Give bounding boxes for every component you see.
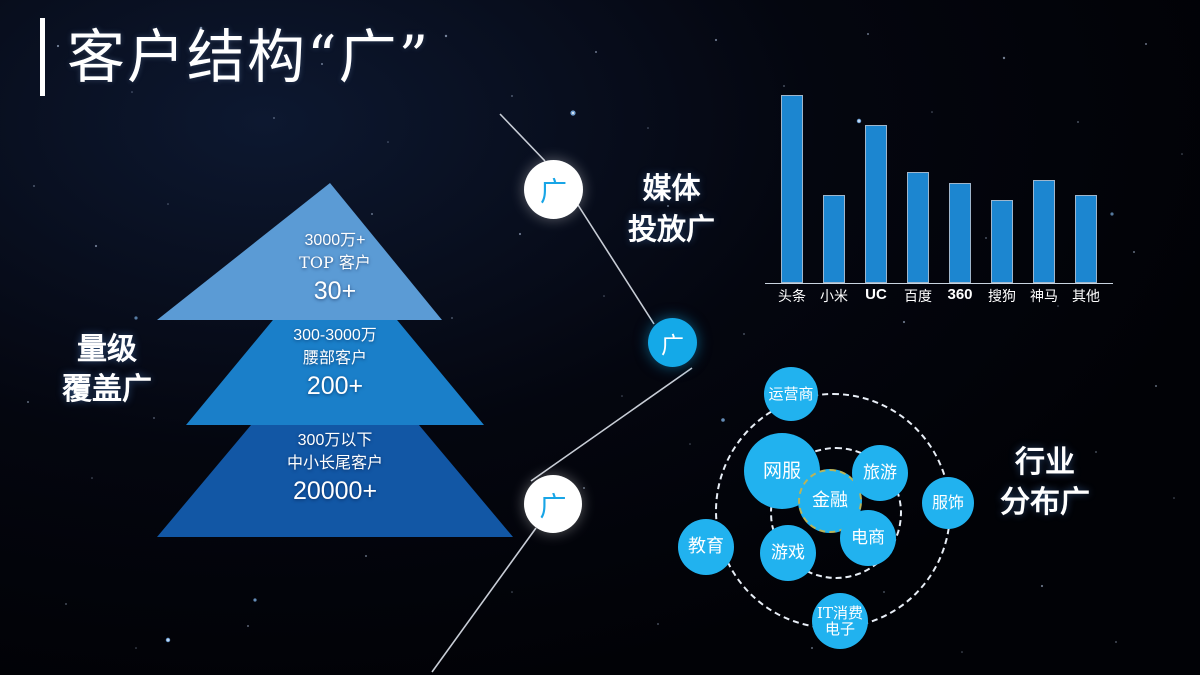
industry-bubble[interactable]: 教育 xyxy=(678,519,734,575)
node-bottom-circle[interactable]: 广 xyxy=(524,475,582,533)
media-bar-chart: 头条小米UC百度360搜狗神马其他 xyxy=(765,95,1115,310)
industry-bubble[interactable]: 运营商 xyxy=(764,367,818,421)
industry-bubble-label: 运营商 xyxy=(765,386,816,402)
node-top-circle[interactable]: 广 xyxy=(524,160,583,219)
chart-bar xyxy=(865,125,887,283)
caption-scale-line2: 覆盖广 xyxy=(62,370,152,410)
industry-bubble[interactable]: 电商 xyxy=(840,510,896,566)
chart-tick-label: 其他 xyxy=(1066,286,1106,306)
chart-tick-label: 360 xyxy=(940,286,980,303)
caption-media-placement: 媒体 投放广 xyxy=(628,168,715,249)
chart-bar xyxy=(991,200,1013,283)
industry-bubble-cluster: 运营商网服金融旅游服饰教育游戏电商IT消费电子 xyxy=(660,355,1010,665)
chart-bar xyxy=(949,183,971,283)
industry-bubble[interactable]: 游戏 xyxy=(760,525,816,581)
chart-x-axis xyxy=(765,283,1113,284)
caption-industry-line2: 分布广 xyxy=(1000,483,1090,523)
industry-bubble[interactable]: 服饰 xyxy=(922,477,974,529)
industry-bubble-label: 金融 xyxy=(809,491,851,510)
chart-bar xyxy=(907,172,929,283)
chart-tick-label: 神马 xyxy=(1024,286,1064,306)
chart-tick-label: 百度 xyxy=(898,286,938,306)
industry-bubble-label: 旅游 xyxy=(860,464,900,482)
caption-scale-line1: 量级 xyxy=(62,330,152,370)
industry-bubble-label: IT消费电子 xyxy=(812,605,868,637)
chart-bar xyxy=(781,95,803,283)
industry-bubble-label: 网服 xyxy=(760,461,804,482)
caption-industry-distribution: 行业 分布广 xyxy=(1000,443,1090,522)
industry-bubble[interactable]: 旅游 xyxy=(852,445,908,501)
pyramid-tier-top-shape xyxy=(157,183,442,320)
node-top-label: 广 xyxy=(540,170,567,209)
chart-tick-label: UC xyxy=(856,286,896,303)
chart-tick-label: 搜狗 xyxy=(982,286,1022,306)
industry-bubble-label: 电商 xyxy=(848,529,888,547)
industry-bubble-label: 服饰 xyxy=(929,494,967,511)
industry-bubble[interactable]: IT消费电子 xyxy=(812,593,868,649)
industry-bubble-label: 游戏 xyxy=(768,544,808,562)
chart-tick-label: 头条 xyxy=(772,286,812,306)
chart-x-tick-labels: 头条小米UC百度360搜狗神马其他 xyxy=(777,286,1115,310)
chart-bar xyxy=(1075,195,1097,283)
industry-bubble-label: 教育 xyxy=(685,537,727,556)
caption-media-line1: 媒体 xyxy=(628,168,715,209)
caption-scale-coverage: 量级 覆盖广 xyxy=(62,330,152,409)
node-bottom-label: 广 xyxy=(540,485,567,524)
caption-industry-line1: 行业 xyxy=(1000,443,1090,483)
caption-media-line2: 投放广 xyxy=(628,209,715,250)
chart-tick-label: 小米 xyxy=(814,286,854,306)
slide-canvas: 客户结构“广” 广 广 广 量级 覆盖广 行业 分布广 媒体 投放广 xyxy=(0,0,1200,675)
chart-bar xyxy=(823,195,845,283)
chart-bar xyxy=(1033,180,1055,283)
customer-pyramid: 3000万+ TOP 客户 30+ 300-3000万 腰部客户 200+ 30… xyxy=(140,175,530,550)
chart-plot-area xyxy=(777,95,1115,283)
